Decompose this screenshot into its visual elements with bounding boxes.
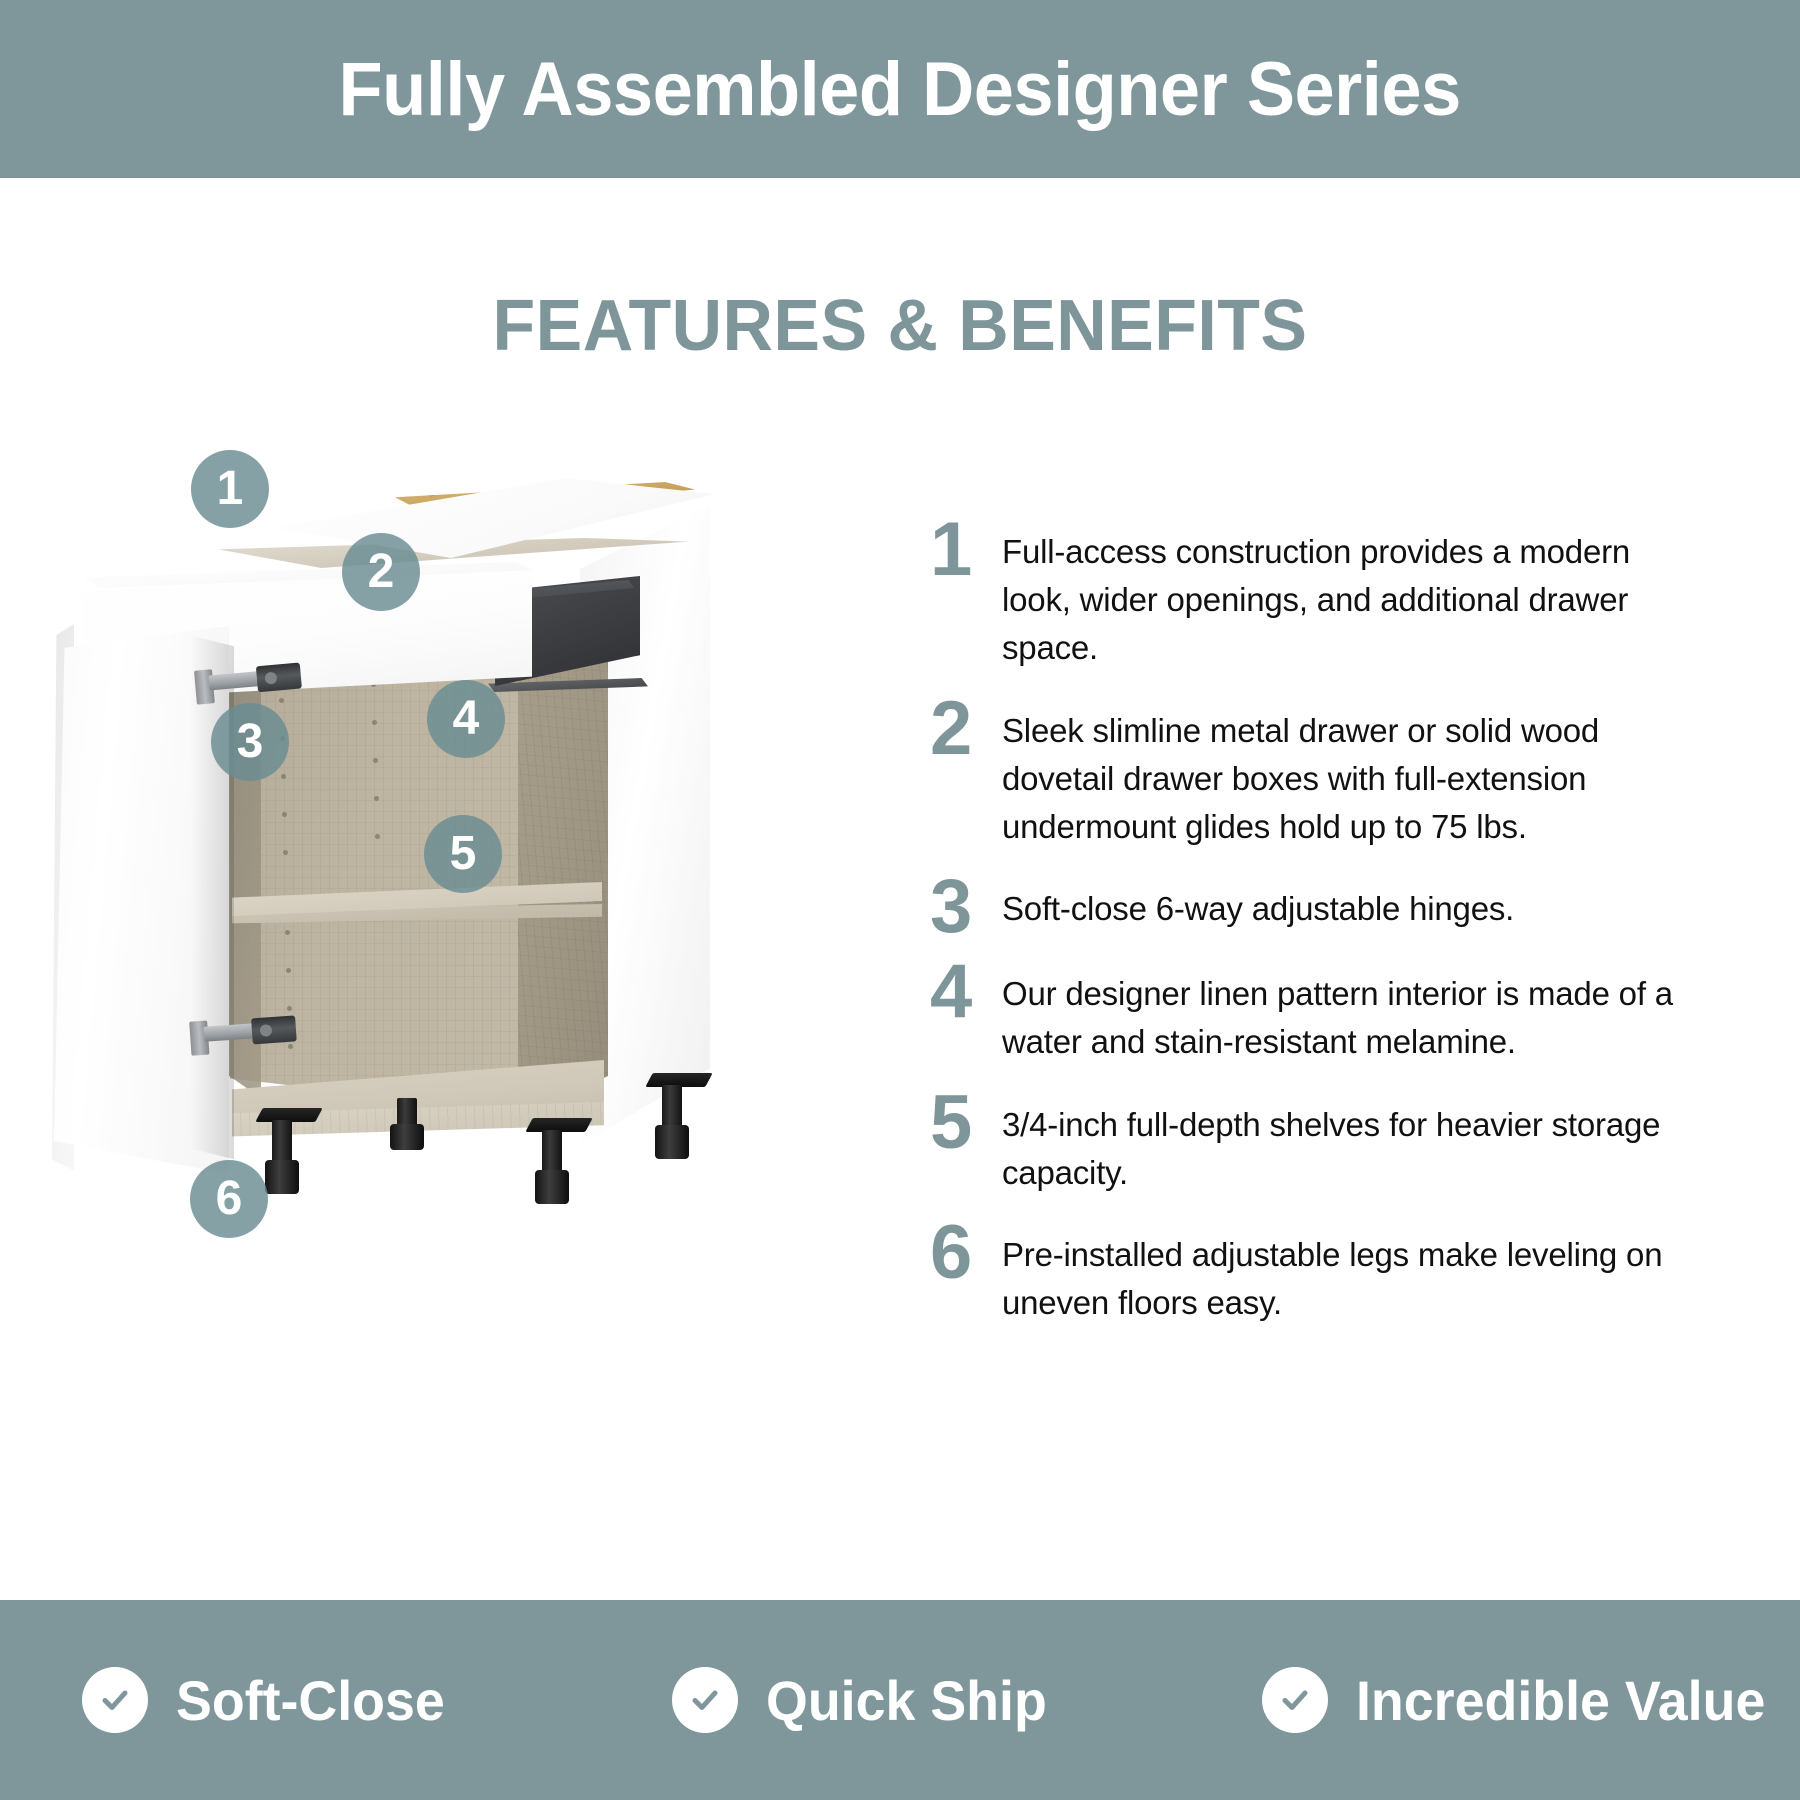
- soft-close-hinge-icon: [193, 653, 304, 706]
- footer-badge-quick-ship: Quick Ship: [672, 1667, 1059, 1733]
- footer-badge-label: Soft-Close: [176, 1668, 445, 1733]
- callout-badge-3: 3: [211, 703, 289, 781]
- callout-badge-4: 4: [427, 680, 505, 758]
- footer-badge-label: Quick Ship: [766, 1668, 1047, 1733]
- callout-badge-6: 6: [190, 1160, 268, 1238]
- shelf-pin-hole: [286, 968, 291, 973]
- feature-number: 3: [930, 877, 1002, 936]
- infographic-page: Fully Assembled Designer Series FEATURES…: [0, 0, 1800, 1800]
- footer-badge-soft-close: Soft-Close: [82, 1667, 456, 1733]
- feature-item: 3 Soft-close 6-way adjustable hinges.: [930, 877, 1690, 936]
- product-image: [40, 430, 800, 1330]
- base-cabinet-illustration: [40, 430, 800, 1330]
- shelf-pin-hole: [281, 774, 286, 779]
- feature-description: Pre-installed adjustable legs make level…: [1002, 1223, 1690, 1327]
- header-bar: Fully Assembled Designer Series: [0, 0, 1800, 178]
- shelf-pin-hole: [285, 930, 290, 935]
- callout-badge-1: 1: [191, 450, 269, 528]
- feature-item: 6 Pre-installed adjustable legs make lev…: [930, 1223, 1690, 1327]
- shelf-pin-hole: [283, 850, 288, 855]
- feature-description: Soft-close 6-way adjustable hinges.: [1002, 877, 1690, 933]
- shelf-pin-hole: [374, 796, 379, 801]
- feature-item: 1 Full-access construction provides a mo…: [930, 520, 1690, 673]
- check-circle-icon: [672, 1667, 738, 1733]
- feature-item: 2 Sleek slimline metal drawer or solid w…: [930, 699, 1690, 852]
- feature-number: 4: [930, 962, 1002, 1021]
- feature-number: 5: [930, 1093, 1002, 1152]
- feature-number: 2: [930, 699, 1002, 758]
- feature-description: Full-access construction provides a mode…: [1002, 520, 1690, 673]
- section-title: FEATURES & BENEFITS: [27, 285, 1773, 367]
- shelf-pin-hole: [373, 758, 378, 763]
- soft-close-hinge-icon: [189, 1006, 300, 1057]
- feature-item: 4 Our designer linen pattern interior is…: [930, 962, 1690, 1066]
- footer-bar: Soft-Close Quick Ship Incredible Value: [0, 1600, 1800, 1800]
- check-circle-icon: [82, 1667, 148, 1733]
- feature-description: 3/4-inch full-depth shelves for heavier …: [1002, 1093, 1690, 1197]
- footer-badge-label: Incredible Value: [1356, 1668, 1765, 1733]
- footer-badge-incredible-value: Incredible Value: [1262, 1667, 1782, 1733]
- features-list: 1 Full-access construction provides a mo…: [930, 520, 1690, 1353]
- check-circle-icon: [1262, 1667, 1328, 1733]
- page-title: Fully Assembled Designer Series: [339, 46, 1461, 133]
- feature-number: 6: [930, 1223, 1002, 1282]
- feature-item: 5 3/4-inch full-depth shelves for heavie…: [930, 1093, 1690, 1197]
- shelf-pin-hole: [372, 720, 377, 725]
- shelf-pin-hole: [375, 834, 380, 839]
- shelf-pin-hole: [282, 812, 287, 817]
- feature-description: Our designer linen pattern interior is m…: [1002, 962, 1690, 1066]
- callout-badge-2: 2: [342, 533, 420, 611]
- cabinet-interior-right-linen: [518, 616, 608, 1116]
- feature-number: 1: [930, 520, 1002, 579]
- feature-description: Sleek slimline metal drawer or solid woo…: [1002, 699, 1690, 852]
- callout-badge-5: 5: [424, 815, 502, 893]
